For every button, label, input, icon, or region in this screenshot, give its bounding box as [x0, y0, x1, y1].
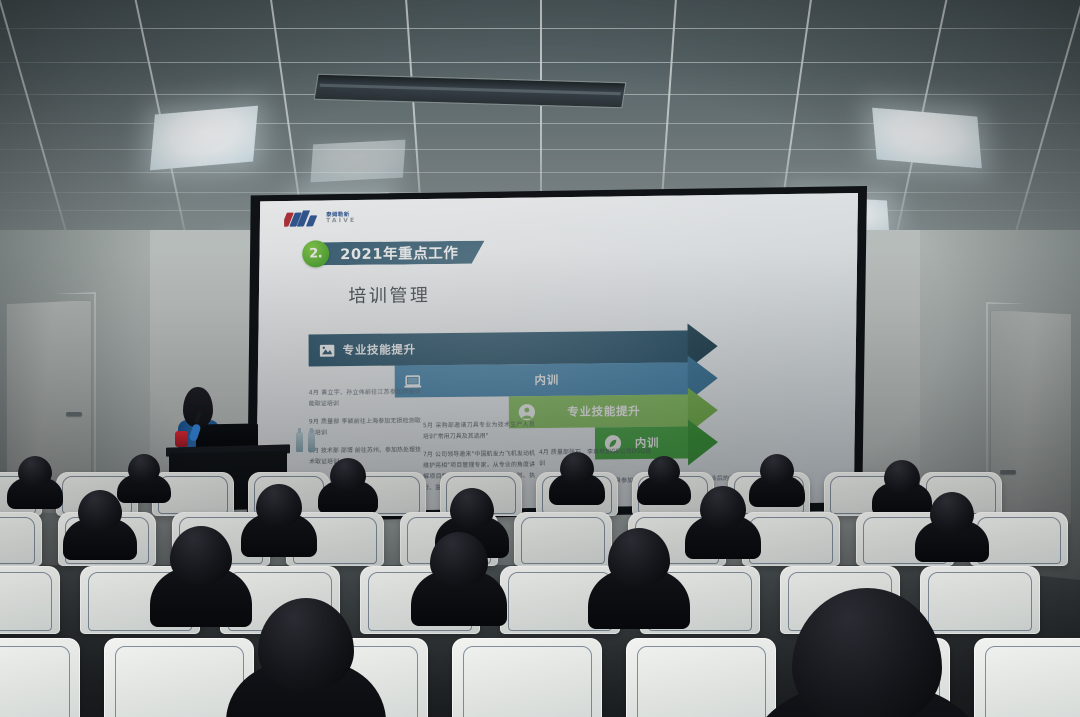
- audience-seat: [514, 512, 612, 566]
- training-item: 4月 质量部张石、李冉参加GE公司DSQ培训: [539, 447, 651, 470]
- section-number-badge: 2.: [302, 240, 329, 267]
- training-item: 9月 质量部 李颖前往上海参加无损检测取证培训: [309, 416, 421, 439]
- presenter-red-object: [175, 431, 188, 447]
- audience-head: [330, 458, 366, 490]
- audience-head: [256, 484, 302, 526]
- section-title-banner: 2021年重点工作: [322, 241, 484, 266]
- audience-seat: [0, 638, 80, 717]
- training-item: 4月 黄立宇、孙立伟前往江苏参加焊接技能取证培训: [309, 387, 421, 410]
- picture-icon: [318, 341, 336, 359]
- ceiling-panel-light: [150, 106, 258, 171]
- arrow-band-row: 专业技能提升: [309, 330, 695, 366]
- audience-head: [430, 532, 488, 586]
- arrow-band-level-1: 专业技能提升: [309, 330, 695, 366]
- section-title: 2021年重点工作: [340, 242, 458, 264]
- audience-head: [128, 454, 160, 482]
- audience-head: [560, 452, 594, 482]
- audience-head: [648, 456, 680, 484]
- ceiling-cross-tee: [0, 172, 1080, 173]
- training-item: 9月 技术部 邵博 前往苏州、参加热处理技术取证培训: [309, 445, 421, 468]
- audience-head: [760, 454, 794, 484]
- slide-subtitle: 培训管理: [348, 281, 430, 308]
- audience-seating: [0, 470, 1080, 717]
- audience-head: [18, 456, 52, 486]
- ceiling-cross-tee: [0, 62, 1080, 63]
- audience-seat: [626, 638, 776, 717]
- audience-seat: [974, 638, 1080, 717]
- audience-seat: [0, 512, 42, 566]
- audience-seat: [0, 566, 60, 634]
- ceiling-panel-light: [310, 140, 405, 183]
- audience-head: [78, 490, 122, 530]
- taive-logo-mark-icon: [284, 210, 322, 227]
- arrow-band-label: 专业技能提升: [343, 341, 416, 358]
- audience-head: [700, 486, 746, 528]
- logo-latin-name: TAIVE: [326, 218, 356, 224]
- air-vent-diffuser: [314, 74, 627, 109]
- audience-seat: [452, 638, 602, 717]
- company-logo: 泰姆勒新 TAIVE: [284, 210, 356, 228]
- left-door-handle[interactable]: [66, 412, 82, 416]
- water-bottle: [308, 432, 315, 452]
- training-item: 5月 采购部邀请刀具专业为技术生产人员培训"常用刀具及其选用": [423, 420, 535, 443]
- ceiling-rib: [1004, 0, 1080, 230]
- audience-seat: [920, 566, 1040, 634]
- audience-head: [930, 492, 974, 532]
- section-banner: 2. 2021年重点工作: [302, 239, 484, 268]
- ceiling-cross-tee: [0, 28, 1080, 29]
- water-bottle: [296, 432, 303, 452]
- conference-room-scene: 泰姆勒新 TAIVE 2. 2021年重点工作 培训管理 专业技能提升内训专业技…: [0, 0, 1080, 717]
- audience-head: [608, 528, 670, 586]
- ceiling-rib: [0, 0, 78, 230]
- audience-head: [884, 460, 920, 492]
- ceiling-panel-light: [872, 108, 982, 169]
- audience-head: [170, 526, 232, 584]
- audience-head: [450, 488, 494, 528]
- training-column-level-1: 4月 黄立宇、孙立伟前往江苏参加焊接技能取证培训9月 质量部 李颖前往上海参加无…: [309, 387, 421, 475]
